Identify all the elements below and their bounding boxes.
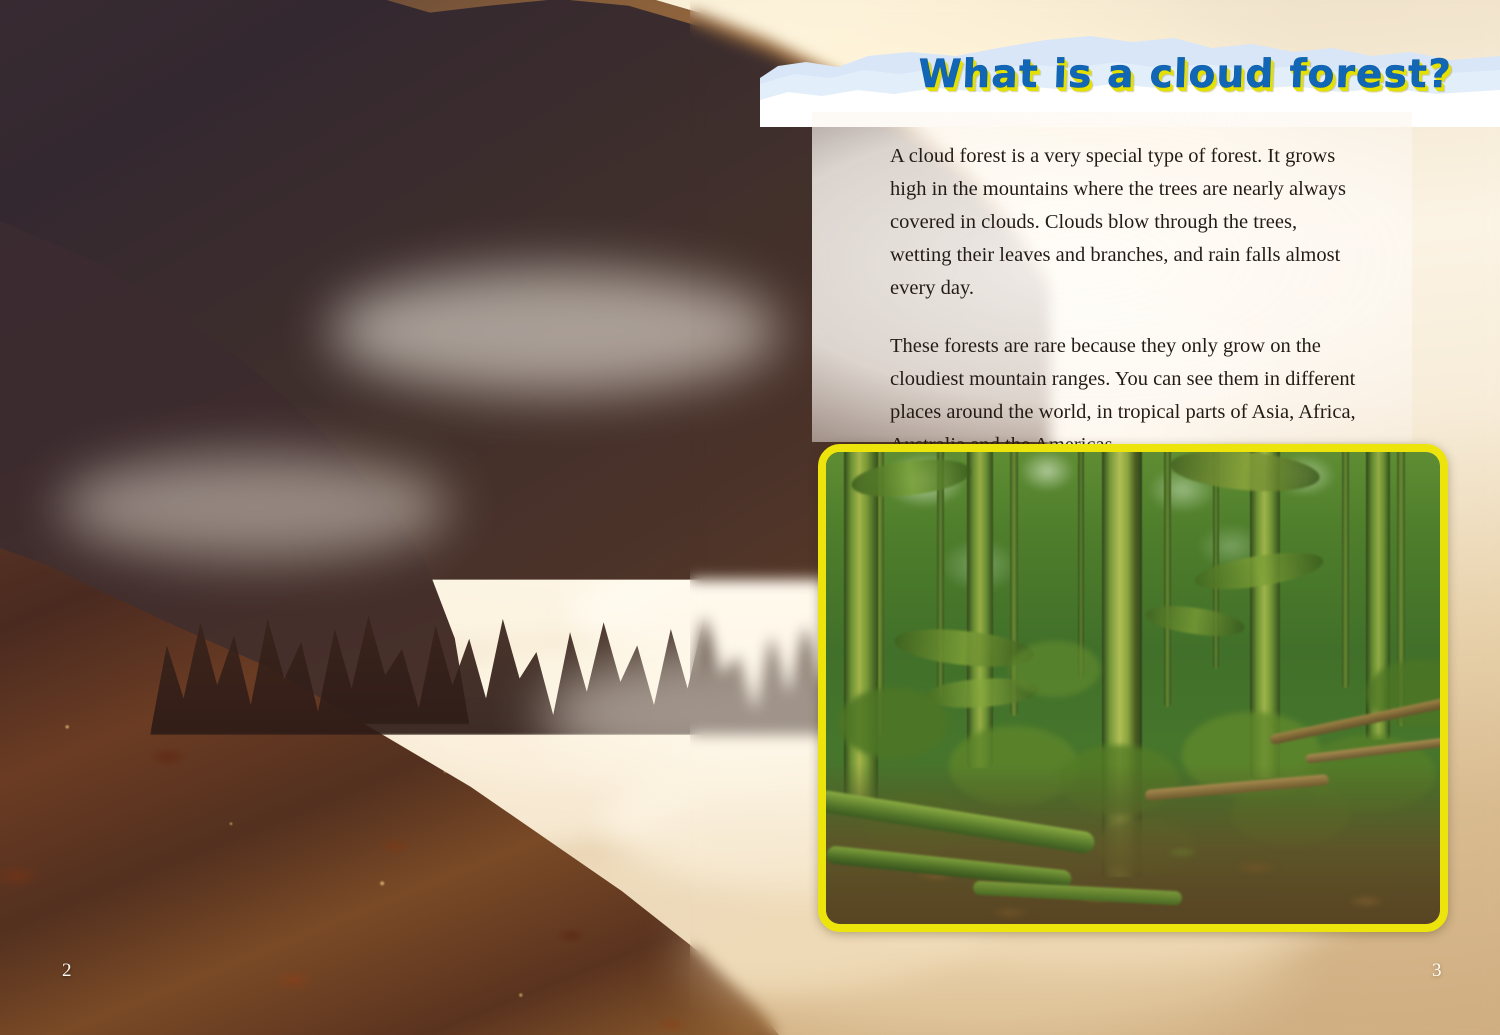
tree-trunk (1164, 452, 1171, 707)
page-number-right: 3 (1432, 960, 1442, 982)
paragraph-2: These forests are rare because they only… (890, 330, 1360, 462)
page-number-left: 2 (62, 960, 72, 982)
tree-trunk (1342, 452, 1349, 688)
paragraph-1: A cloud forest is a very special type of… (890, 140, 1360, 305)
inset-photo-content (826, 452, 1440, 924)
inset-photo-cloud-forest (818, 444, 1448, 932)
mossy-tree-trunk (967, 452, 993, 768)
undergrowth-clump (1010, 641, 1100, 697)
book-spread: What is a cloud forest? A cloud forest i… (0, 0, 1500, 1035)
body-copy: A cloud forest is a very special type of… (890, 140, 1360, 462)
